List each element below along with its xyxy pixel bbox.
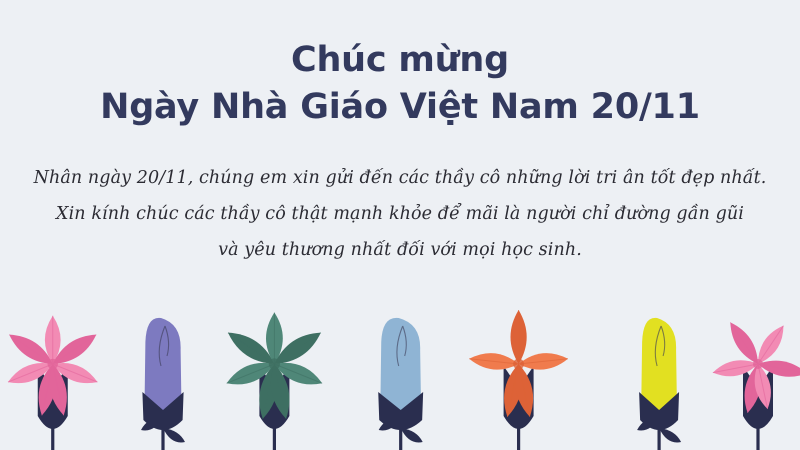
flower-centre: [514, 359, 525, 370]
petal-vein: [730, 322, 758, 364]
flower-centre: [753, 359, 763, 369]
flower-pink-right: [663, 280, 800, 450]
flower-centre: [47, 359, 58, 370]
flower-garden: [0, 280, 800, 450]
greeting-card: Chúc mừng Ngày Nhà Giáo Việt Nam 20/11 N…: [0, 0, 800, 450]
petal-vein: [758, 326, 783, 364]
message-line-2: Xin kính chúc các thầy cô thật mạnh khỏe…: [0, 196, 800, 232]
flower-centre: [268, 358, 279, 369]
flower-orange: [416, 280, 621, 450]
greeting-message: Nhân ngày 20/11, chúng em xin gửi đến cá…: [0, 160, 800, 268]
message-line-1: Nhân ngày 20/11, chúng em xin gửi đến cá…: [0, 160, 800, 196]
page-title: Chúc mừng Ngày Nhà Giáo Việt Nam 20/11: [0, 38, 800, 132]
title-line-1: Chúc mừng: [0, 38, 800, 82]
message-line-3: và yêu thương nhất đối với mọi học sinh.: [0, 232, 800, 268]
title-line-2: Ngày Nhà Giáo Việt Nam 20/11: [0, 82, 800, 132]
